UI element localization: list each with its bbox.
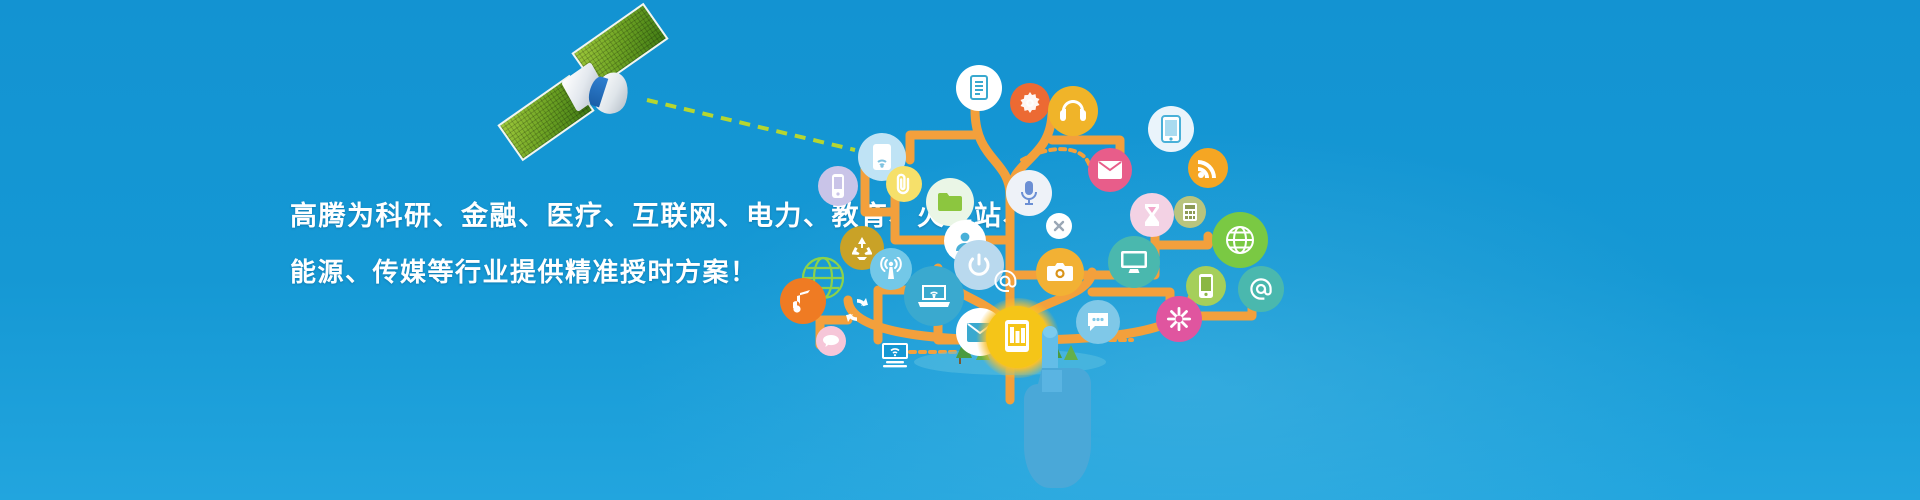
at-circle-icon[interactable]	[1238, 266, 1284, 312]
screen-wifi-icon[interactable]	[878, 338, 912, 372]
globe-icon[interactable]	[1212, 212, 1268, 268]
envelope-icon[interactable]	[1088, 148, 1132, 192]
laptop-wifi-icon[interactable]	[904, 266, 964, 326]
close-icon[interactable]	[1046, 213, 1072, 239]
headphones-icon[interactable]	[1048, 86, 1098, 136]
paperclip-icon[interactable]	[886, 166, 922, 202]
hand-pointing-graphic	[1020, 318, 1092, 488]
hourglass-icon[interactable]	[1130, 193, 1174, 237]
flower-icon[interactable]	[1156, 296, 1202, 342]
folder-icon[interactable]	[926, 178, 974, 226]
promo-banner: 高腾为科研、金融、医疗、互联网、电力、教育、火车站、 能源、传媒等行业提供精准授…	[0, 0, 1920, 500]
rss-icon[interactable]	[1188, 148, 1228, 188]
document-icon[interactable]	[956, 65, 1002, 111]
music-note-icon[interactable]	[780, 278, 826, 324]
mobile-phone-icon[interactable]	[818, 166, 858, 206]
monitor-icon[interactable]	[1108, 236, 1160, 288]
refresh-icon[interactable]	[840, 293, 874, 327]
satellite-graphic	[498, 18, 658, 153]
camera-icon[interactable]	[1036, 248, 1084, 296]
microphone-icon[interactable]	[1006, 170, 1052, 216]
calculator-icon[interactable]	[1174, 196, 1206, 228]
gear-icon[interactable]	[1010, 83, 1050, 123]
telephone-icon[interactable]	[816, 326, 846, 356]
tablet-icon[interactable]	[1148, 106, 1194, 152]
at-sign-icon[interactable]	[990, 266, 1020, 296]
